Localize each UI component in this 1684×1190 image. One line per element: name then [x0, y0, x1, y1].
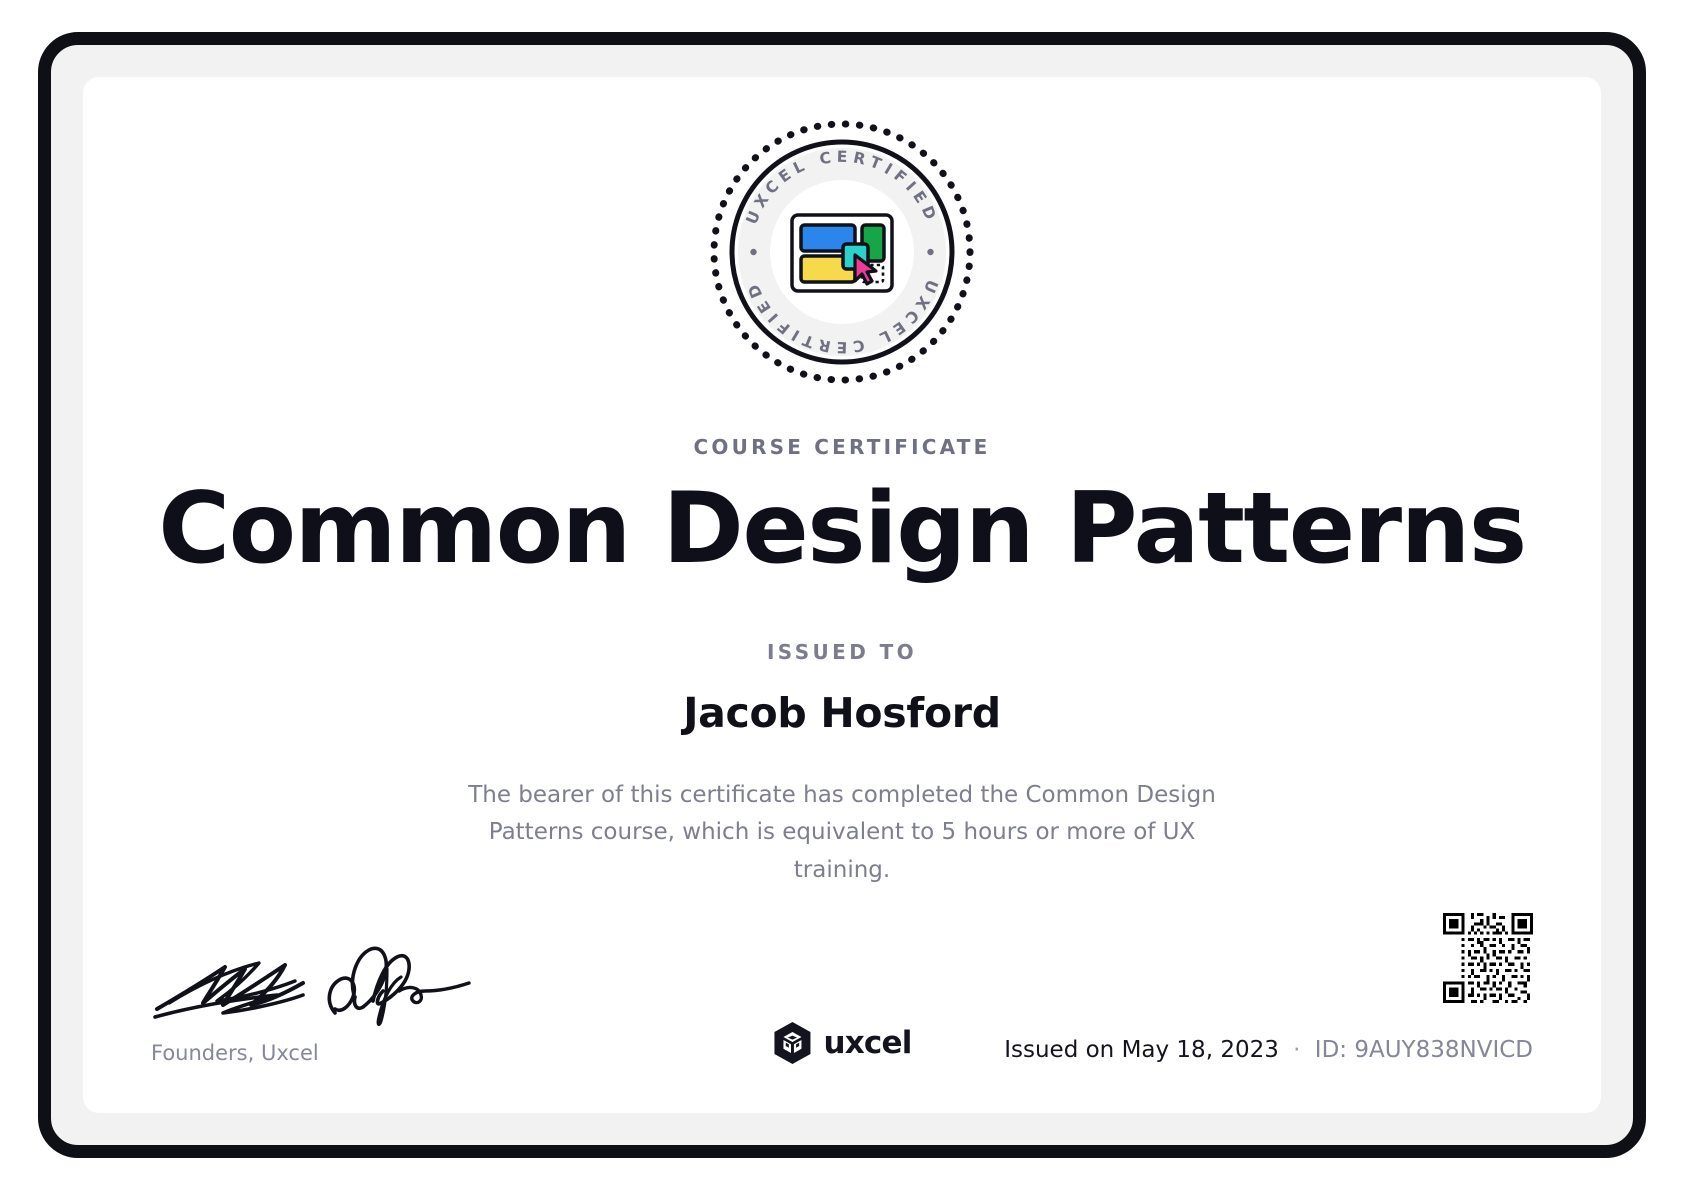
- signature-block: Founders, Uxcel: [151, 943, 481, 1065]
- issue-info: Issued on May 18, 2023 · ID: 9AUY838NVIC…: [1004, 1037, 1533, 1063]
- page-eyebrow: COURSE CERTIFICATE: [83, 435, 1601, 459]
- issued-to-label: ISSUED TO: [83, 640, 1601, 664]
- certificate-description: The bearer of this certificate has compl…: [462, 777, 1222, 889]
- seal-dot-right: [927, 249, 933, 255]
- brand-logo: uxcel: [772, 1021, 911, 1065]
- certificate-id: ID: 9AUY838NVICD: [1315, 1037, 1533, 1063]
- certificate-frame: UXCEL CERTIFIED UXCEL CERTIFIED: [38, 32, 1646, 1158]
- issue-separator: ·: [1286, 1037, 1307, 1063]
- qr-code-icon: [1443, 913, 1533, 1003]
- seal-dot-left: [750, 249, 756, 255]
- page-title: Common Design Patterns: [83, 477, 1601, 583]
- handwritten-signature-icon: [151, 943, 481, 1035]
- certificate-card: UXCEL CERTIFIED UXCEL CERTIFIED: [83, 77, 1601, 1113]
- layout-patterns-window-icon: [792, 215, 892, 291]
- uxcel-certified-seal: UXCEL CERTIFIED UXCEL CERTIFIED: [707, 117, 977, 387]
- issue-date: Issued on May 18, 2023: [1004, 1037, 1279, 1063]
- brand-wordmark: uxcel: [823, 1025, 911, 1061]
- recipient-name: Jacob Hosford: [83, 689, 1601, 737]
- signature-caption: Founders, Uxcel: [151, 1041, 481, 1065]
- uxcel-hexagon-cube-logo-icon: [772, 1021, 812, 1065]
